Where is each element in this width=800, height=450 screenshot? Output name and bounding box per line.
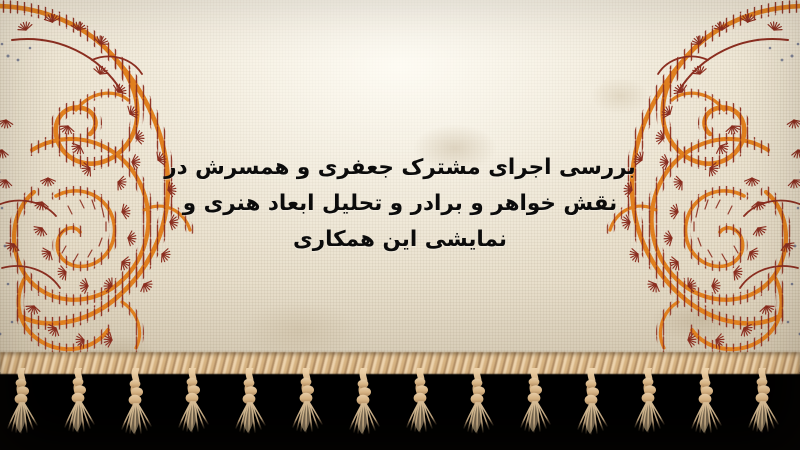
title-line-3: نمایشی این همکاری: [150, 222, 650, 258]
banner-stage: بررسی اجرای مشترک جعفری و همسرش در نقش خ…: [0, 0, 800, 450]
fringe-tassels: [0, 368, 800, 450]
textile-hem-cord: [0, 352, 800, 374]
banner-title: بررسی اجرای مشترک جعفری و همسرش در نقش خ…: [150, 150, 650, 258]
title-line-2: نقش خواهر و برادر و تحلیل ابعاد هنری و: [150, 186, 650, 222]
title-line-1: بررسی اجرای مشترک جعفری و همسرش در: [150, 150, 650, 186]
